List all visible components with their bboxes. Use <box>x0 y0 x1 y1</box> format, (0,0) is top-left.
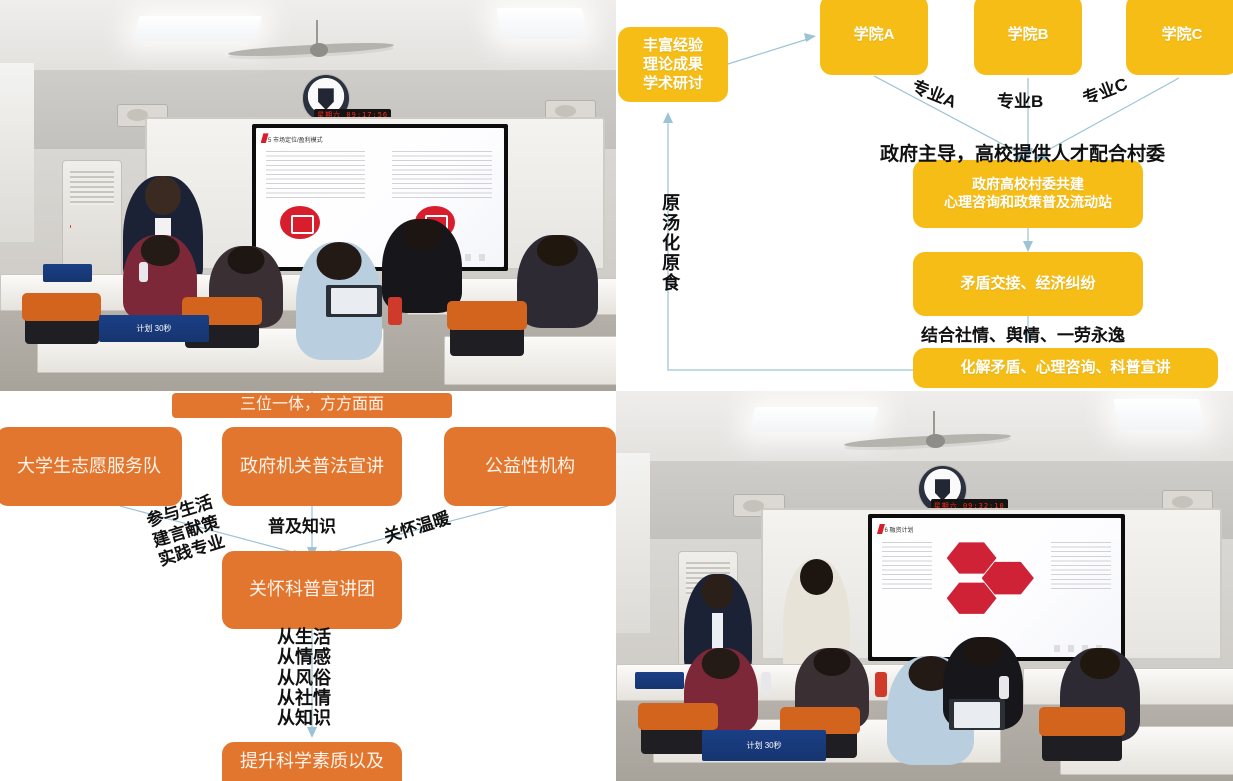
water-bottle <box>761 672 771 695</box>
node-college-b: 学院B <box>974 0 1082 75</box>
desk-banner-text: 计划 30秒 <box>747 740 782 751</box>
node-result-box: 化解矛盾、心理咨询、科普宣讲 <box>913 348 1218 388</box>
node-college-a-label: 学院A <box>854 25 895 44</box>
thermos-bottle <box>388 297 402 324</box>
node-conflict-box: 矛盾交接、经济纠纷 <box>913 252 1143 316</box>
fan-hub <box>926 434 945 448</box>
presenter-head <box>800 559 834 595</box>
node-conflict-label: 矛盾交接、经济纠纷 <box>960 274 1095 293</box>
thermos-bottle <box>875 672 887 697</box>
slide-text-column-left <box>266 151 365 198</box>
node-title-bar-label: 三位一体，方方面面 <box>240 395 384 416</box>
node-student-volunteer-team: 大学生志愿服务队 <box>0 427 182 506</box>
audience-head <box>141 235 179 266</box>
diagram-panel-top-right: 丰富经验 理论成果 学术研讨 学院A 学院B 学院C 专业A 专业B 专业C 政… <box>616 0 1233 391</box>
node-experience-label: 丰富经验 理论成果 学术研讨 <box>643 36 703 94</box>
audience-head <box>813 648 850 676</box>
node-joint-station-line2: 心理咨询和政策普及流动站 <box>944 194 1112 212</box>
slide-title: 6 融资计划 <box>884 525 913 534</box>
desk-banner <box>635 672 684 690</box>
edge-label-major-b: 专业B <box>997 92 1043 111</box>
laptop <box>949 699 1005 730</box>
slide-content: 6 融资计划 <box>872 518 1121 657</box>
edge-label-major-a: 专业A <box>909 77 959 112</box>
photo-panel-top-left: 星期六 09:17:56 5 市场定位/盈利模式 <box>0 0 616 391</box>
node-experience-box: 丰富经验 理论成果 学术研讨 <box>618 27 728 102</box>
audience-head <box>1080 648 1120 679</box>
photo-panel-bottom-right: 星期六 09:32:10 6 融资计划 <box>616 391 1233 781</box>
node-outcome-box: 提升科学素质以及 <box>222 742 402 781</box>
node-college-c: 学院C <box>1126 0 1233 75</box>
audience-head <box>402 219 442 250</box>
classroom-photo-1: 星期六 09:17:56 5 市场定位/盈利模式 <box>0 0 616 391</box>
ceiling-lamp-right <box>1113 399 1205 430</box>
chair <box>450 305 524 356</box>
window-left <box>0 63 34 243</box>
slide-title: 5 市场定位/盈利模式 <box>268 135 323 144</box>
presenter-head <box>702 574 735 609</box>
node-government-law-label: 政府机关普法宣讲 <box>240 455 384 478</box>
audience-head <box>702 648 740 679</box>
node-outcome-label: 提升科学素质以及 <box>240 750 384 773</box>
ceiling-lamp-right <box>496 8 588 39</box>
node-college-b-label: 学院B <box>1008 25 1049 44</box>
laptop <box>326 285 381 316</box>
display-screen: 5 市场定位/盈利模式 <box>252 124 509 271</box>
node-care-science-label: 关怀科普宣讲团 <box>249 578 375 601</box>
node-college-a: 学院A <box>820 0 928 75</box>
ac-indicator-icon <box>70 225 71 228</box>
window-left <box>616 453 650 632</box>
poster-canvas: 星期六 09:17:56 5 市场定位/盈利模式 <box>0 0 1233 781</box>
desk-banner: 计划 30秒 <box>99 315 210 342</box>
chair <box>25 297 99 344</box>
node-college-c-label: 学院C <box>1162 25 1203 44</box>
node-result-label: 化解矛盾、心理咨询、科普宣讲 <box>960 358 1170 377</box>
audience-head <box>228 246 265 274</box>
audience-head <box>316 242 361 280</box>
slide-text-column-right <box>1051 542 1111 589</box>
node-student-volunteer-label: 大学生志愿服务队 <box>17 455 161 478</box>
diagram-panel-bottom-left: 三位一体，方方面面 大学生志愿服务队 政府机关普法宣讲 公益性机构 参与生活 建… <box>0 391 616 781</box>
audience-member <box>517 235 597 329</box>
desk-banner <box>43 264 92 282</box>
ceiling-lamp-left <box>132 16 262 41</box>
audience-head <box>537 235 577 266</box>
edge-label-care-warmth: 关怀温暖 <box>382 508 453 546</box>
slide-text-column-left <box>882 542 932 589</box>
node-care-science-team: 关怀科普宣讲团 <box>222 551 402 629</box>
slide-text-column-right <box>392 151 491 198</box>
headline-government-led: 政府主导，高校提供人才配合村委 <box>880 144 1165 165</box>
node-government-law-lecture: 政府机关普法宣讲 <box>222 427 402 506</box>
audience-head <box>964 637 1002 666</box>
slide-circle-icon-left <box>280 206 320 239</box>
edge-label-major-c: 专业C <box>1080 74 1130 108</box>
slide-content: 5 市场定位/盈利模式 <box>256 128 505 267</box>
feedback-vertical-label: 原汤化原食 <box>660 193 680 293</box>
node-public-welfare-org: 公益性机构 <box>444 427 616 506</box>
node-joint-station: 政府高校村委共建 心理咨询和政策普及流动站 <box>913 160 1143 228</box>
presenter-head <box>145 176 181 215</box>
ceiling-lamp-left <box>749 407 879 432</box>
desk-banner: 计划 30秒 <box>702 730 825 761</box>
caption-combine-social: 结合社情、舆情、一劳永逸 <box>921 326 1125 345</box>
desk-banner-text: 计划 30秒 <box>136 323 171 334</box>
node-joint-station-line1: 政府高校村委共建 <box>972 176 1084 194</box>
approach-list: 从生活 从情感 从风俗 从社情 从知识 <box>277 627 331 729</box>
edge-label-spread-knowledge: 普及知识 <box>268 517 336 536</box>
water-bottle <box>139 262 149 282</box>
water-bottle <box>999 676 1009 699</box>
node-title-bar: 三位一体，方方面面 <box>172 393 452 418</box>
chair <box>1042 711 1122 762</box>
classroom-photo-2: 星期六 09:32:10 6 融资计划 <box>616 391 1233 781</box>
node-public-welfare-label: 公益性机构 <box>485 455 575 478</box>
